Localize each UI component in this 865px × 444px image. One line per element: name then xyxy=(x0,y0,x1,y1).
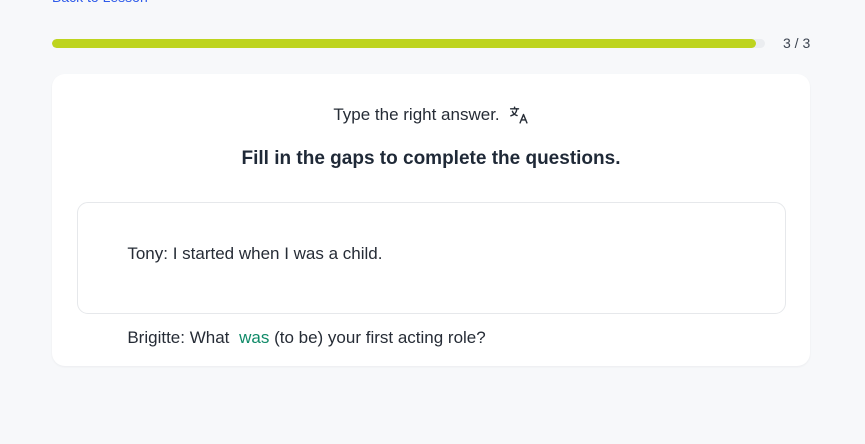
card-instruction-label: Type the right answer. xyxy=(333,104,499,126)
translate-icon[interactable] xyxy=(509,105,529,125)
exercise-line-2-suffix: (to be) your first acting role? xyxy=(269,328,485,347)
back-link-container: Back to Lesson xyxy=(52,0,148,2)
progress-row: 3 / 3 xyxy=(52,32,813,54)
exercise-line-1: Tony: I started when I was a child. xyxy=(99,221,764,287)
exercise-card: Type the right answer. Fill in the gaps … xyxy=(52,74,810,366)
exercise-box: Tony: I started when I was a child. Brig… xyxy=(77,202,786,314)
progress-bar-track xyxy=(52,39,765,48)
filled-answer[interactable]: was xyxy=(239,328,269,347)
progress-counter: 3 / 3 xyxy=(783,34,810,52)
page-title: Fill in the gaps to complete the questio… xyxy=(52,146,810,171)
card-instruction: Type the right answer. xyxy=(52,104,810,126)
back-to-lesson-link[interactable]: Back to Lesson xyxy=(52,0,148,2)
exercise-line-1-text: Tony: I started when I was a child. xyxy=(127,244,382,263)
progress-bar-fill xyxy=(52,39,756,48)
exercise-line-2-prefix: Brigitte: What xyxy=(127,328,234,347)
exercise-line-2: Brigitte: What was (to be) your first ac… xyxy=(99,305,764,371)
